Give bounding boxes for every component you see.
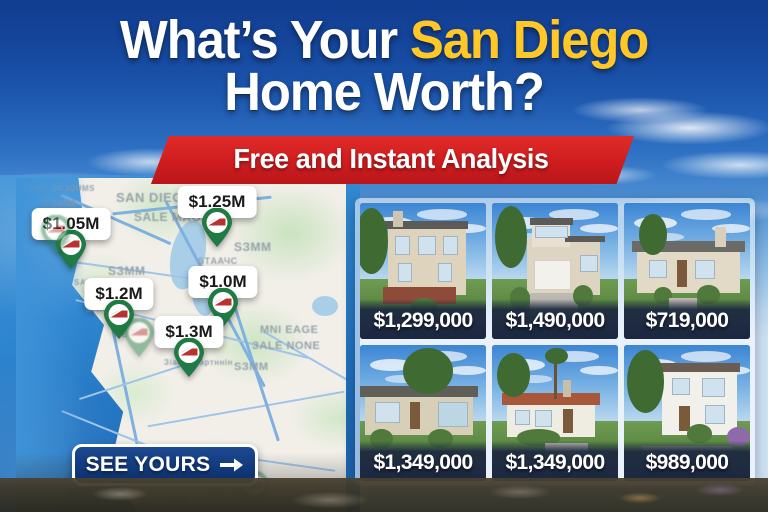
photo-tree [497, 353, 530, 397]
promo-banner: Free and Instant Analysis [148, 136, 634, 184]
headline-city-accent: San Diego [410, 10, 648, 70]
listing-card[interactable]: $1,299,000 [360, 203, 486, 339]
photo-cloud [417, 209, 467, 220]
photo-window [705, 405, 725, 424]
photo-front-door [563, 409, 573, 433]
listing-card[interactable]: $989,000 [624, 345, 750, 481]
listing-photo-grid[interactable]: $1,299,000$1,490,000$719,000$1,349,000$1… [355, 198, 755, 486]
map-price-marker[interactable] [32, 199, 66, 239]
listing-card[interactable]: $1,349,000 [360, 345, 486, 481]
photo-window [395, 236, 410, 255]
photo-window [515, 410, 530, 425]
photo-front-door [410, 402, 420, 429]
photo-window [438, 402, 468, 426]
map-pin-icon[interactable] [122, 318, 142, 342]
photo-front-door [677, 260, 687, 287]
photo-roof [659, 363, 740, 373]
photo-window [375, 402, 400, 422]
arrow-right-icon [220, 457, 244, 473]
listing-price: $989,000 [624, 441, 750, 481]
photo-cloud [580, 366, 618, 375]
listing-price: $719,000 [624, 299, 750, 339]
photo-garage-door [534, 260, 572, 290]
photo-tree [627, 350, 665, 413]
photo-chimney [715, 227, 726, 246]
page-title: What’s Your San Diego Home Worth? [23, 14, 745, 119]
photo-window [695, 260, 715, 279]
map-place-label: STААЧС [198, 256, 238, 266]
photo-window [535, 226, 568, 238]
photo-window [649, 260, 667, 278]
listing-price: $1,490,000 [492, 299, 618, 339]
map-place-label: ЗALE NONE [252, 340, 320, 352]
photo-chimney [563, 380, 572, 396]
photo-palm-fronds [545, 348, 568, 364]
photo-window [702, 378, 725, 397]
photo-chimney [393, 211, 403, 227]
map-pin-icon[interactable] [172, 338, 206, 378]
listing-card[interactable]: $1,349,000 [492, 345, 618, 481]
photo-cloud [681, 209, 731, 220]
listing-price: $1,349,000 [360, 441, 486, 481]
photo-tree [495, 206, 528, 269]
listing-price: $1,349,000 [492, 441, 618, 481]
photo-window [443, 236, 458, 255]
photo-front-door [679, 406, 689, 430]
map-pin-icon[interactable] [39, 215, 59, 239]
map-water-body [312, 296, 338, 316]
photo-roof [530, 218, 573, 225]
promo-banner-label: Free and Instant Analysis [158, 136, 625, 184]
photo-cloud [448, 366, 486, 375]
map-price-marker[interactable]: $1.25M [200, 208, 234, 248]
photo-cloud [580, 224, 618, 233]
photo-window [672, 378, 690, 396]
map-pin-icon[interactable] [200, 208, 234, 248]
listing-card[interactable]: $719,000 [624, 203, 750, 339]
map-place-label: SЗMM [234, 361, 269, 373]
map-price-marker[interactable] [115, 302, 149, 342]
see-yours-label: SEE YOURS [86, 453, 211, 477]
photo-window [535, 410, 553, 426]
headline-line2: Home Worth? [23, 66, 745, 118]
photo-cloud [681, 351, 731, 362]
map-place-label: SЗMM [108, 264, 146, 278]
listing-price: $1,299,000 [360, 299, 486, 339]
photo-tree [403, 348, 453, 394]
map-price-marker[interactable]: $1.3M [172, 338, 206, 378]
photo-roof [565, 236, 605, 243]
photo-window [418, 236, 436, 255]
photo-window [398, 263, 412, 282]
listing-card[interactable]: $1,490,000 [492, 203, 618, 339]
photo-window [438, 263, 452, 282]
map-place-label: МNI ЕАGE [260, 324, 318, 336]
map-place-label: SЗMM [234, 240, 272, 254]
headline-line1-part1: What’s Your [120, 10, 410, 70]
bottom-photo-strip [0, 478, 768, 512]
photo-window [580, 255, 598, 273]
photo-tree [639, 214, 667, 255]
